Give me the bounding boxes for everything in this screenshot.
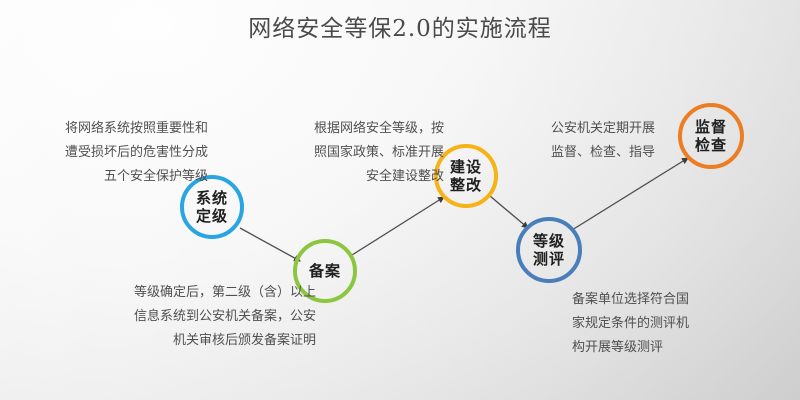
node-label-grade-evaluation: 等级: [533, 232, 565, 250]
node-label-supervision-inspection: 检查: [695, 136, 727, 154]
caption-system-grading: 将网络系统按照重要性和遭受损坏后的危害性分成五个安全保护等级: [12, 117, 208, 189]
page-title: 网络安全等保2.0的实施流程: [0, 14, 800, 44]
caption-construction-rectification-line: 照国家政策、标准开展: [272, 141, 444, 165]
caption-filing-line: 机关审核后颁发备案证明: [82, 329, 316, 353]
caption-supervision-inspection: 公安机关定期开展监督、检查、指导: [551, 117, 691, 165]
node-label-grade-evaluation: 测评: [533, 250, 565, 268]
flowchart-slide: 网络安全等保2.0的实施流程 系统定级备案建设整改等级测评监督检查 将网络系统按…: [0, 0, 800, 400]
caption-supervision-inspection-line: 监督、检查、指导: [551, 141, 691, 165]
node-label-system-grading: 定级: [196, 207, 228, 225]
node-label-filing: 备案: [309, 262, 341, 280]
node-label-supervision-inspection: 监督: [695, 118, 727, 136]
caption-construction-rectification-line: 根据网络安全等级，按: [272, 117, 444, 141]
connector-arrow-construction-to-evaluation: [490, 196, 528, 228]
caption-filing-line: 等级确定后，第二级（含）以上: [82, 281, 316, 305]
node-label-construction-rectification: 整改: [450, 176, 482, 194]
caption-grade-evaluation-line: 构开展等级测评: [572, 336, 742, 360]
node-label-system-grading: 系统: [196, 189, 228, 207]
connector-arrow-evaluation-to-supervision: [572, 158, 688, 230]
node-label-construction-rectification: 建设: [450, 158, 482, 176]
caption-filing: 等级确定后，第二级（含）以上信息系统到公安机关备案，公安机关审核后颁发备案证明: [82, 281, 316, 353]
connector-arrow-filing-to-construction: [352, 197, 444, 255]
caption-grade-evaluation: 备案单位选择符合国家规定条件的测评机构开展等级测评: [572, 288, 742, 360]
caption-grade-evaluation-line: 备案单位选择符合国: [572, 288, 742, 312]
caption-grade-evaluation-line: 家规定条件的测评机: [572, 312, 742, 336]
caption-supervision-inspection-line: 公安机关定期开展: [551, 117, 691, 141]
caption-filing-line: 信息系统到公安机关备案，公安: [82, 305, 316, 329]
caption-construction-rectification: 根据网络安全等级，按照国家政策、标准开展安全建设整改: [272, 117, 444, 189]
caption-construction-rectification-line: 安全建设整改: [272, 165, 444, 189]
caption-system-grading-line: 五个安全保护等级: [12, 165, 208, 189]
node-grade-evaluation[interactable]: 等级测评: [516, 217, 582, 283]
connector-arrow-grading-to-filing: [240, 228, 300, 261]
caption-system-grading-line: 将网络系统按照重要性和: [12, 117, 208, 141]
caption-system-grading-line: 遭受损坏后的危害性分成: [12, 141, 208, 165]
